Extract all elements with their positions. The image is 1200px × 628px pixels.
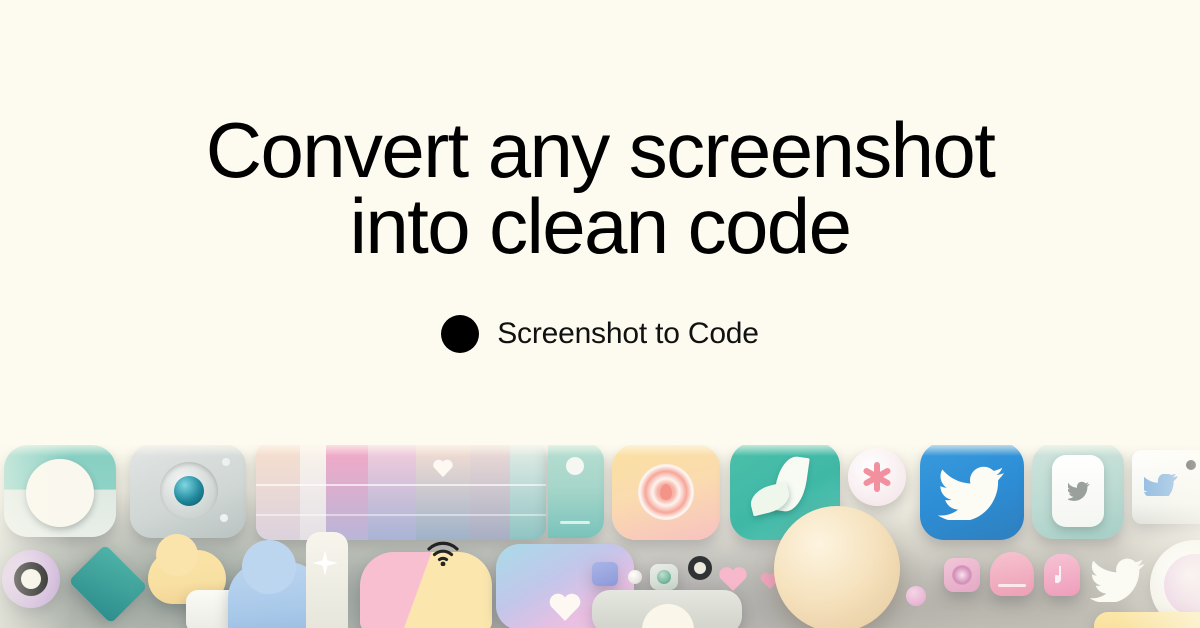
- bird-icon: [1144, 474, 1178, 496]
- grid-column: [368, 442, 416, 540]
- lens-icon: [657, 570, 671, 584]
- ring-icon: [2, 550, 60, 608]
- wifi-icon: [426, 540, 460, 566]
- grid-column: [300, 442, 326, 540]
- dot-icon: [906, 586, 926, 606]
- dot-icon: [1186, 460, 1196, 470]
- dot-icon: [220, 514, 228, 522]
- asterisk-badge: [848, 448, 906, 506]
- ring-center: [694, 562, 706, 574]
- ring-center: [21, 569, 41, 589]
- decorative-image-strip: [0, 440, 1200, 628]
- grid-column: [256, 442, 300, 540]
- camera-tile: [130, 444, 246, 538]
- sphere-icon: [774, 506, 900, 628]
- mint-edge-tile: [548, 443, 604, 538]
- bird-icon: [1090, 558, 1146, 602]
- divider: [998, 584, 1026, 587]
- target-rings-icon: [638, 464, 694, 520]
- grid-column: [470, 442, 510, 540]
- circle-icon: [26, 459, 94, 527]
- blue-square-icon: [592, 562, 618, 586]
- lens-icon: [952, 565, 972, 585]
- black-circle-icon: [441, 315, 479, 353]
- arch-shape: [642, 604, 694, 628]
- white-card: [1052, 455, 1104, 527]
- grey-square-icon: [650, 564, 678, 590]
- bird-icon: [1068, 481, 1090, 501]
- camera-app-icon: [944, 558, 980, 592]
- grid-column: [510, 442, 546, 540]
- cloud-puff: [242, 540, 296, 594]
- heart-icon: [432, 458, 454, 478]
- dot-icon: [628, 570, 642, 584]
- pastel-grid-panel: [256, 442, 546, 540]
- sparkle-icon: [312, 550, 338, 576]
- camera-lens-icon: [174, 476, 204, 506]
- grid-line: [256, 514, 546, 516]
- brand-name: Screenshot to Code: [497, 317, 759, 351]
- envelope-card: [1132, 450, 1200, 524]
- target-tile: [612, 444, 720, 540]
- location-pin-icon: [660, 484, 672, 500]
- hero-section: Convert any screenshot into clean code S…: [0, 0, 1200, 445]
- page-title: Convert any screenshot into clean code: [206, 112, 995, 265]
- cloud-puff: [156, 534, 198, 576]
- heart-icon: [548, 592, 582, 622]
- asterisk-icon: [862, 462, 892, 492]
- brand-lockup: Screenshot to Code: [441, 315, 759, 353]
- ring-icon: [688, 556, 712, 580]
- music-note-icon: [1055, 564, 1069, 586]
- column-shape: [306, 532, 348, 628]
- dot-icon: [566, 457, 584, 475]
- divider: [560, 521, 590, 524]
- grid-line: [256, 484, 546, 486]
- teal-circle-tile: [4, 445, 116, 537]
- envelope-icon: [68, 544, 147, 623]
- pink-arch-icon: [990, 552, 1034, 596]
- plate-inner: [1164, 554, 1200, 616]
- twitter-tile: [920, 442, 1024, 540]
- grey-rounded-tile: [592, 590, 742, 628]
- grid-column: [326, 442, 368, 540]
- heart-icon: [718, 566, 748, 592]
- pink-badge-icon: [1044, 554, 1080, 596]
- bird-icon: [938, 466, 1006, 520]
- dot-icon: [222, 458, 230, 466]
- mint-card-tile: [1032, 443, 1124, 539]
- grid-column: [416, 442, 470, 540]
- yellow-card: [1094, 612, 1200, 628]
